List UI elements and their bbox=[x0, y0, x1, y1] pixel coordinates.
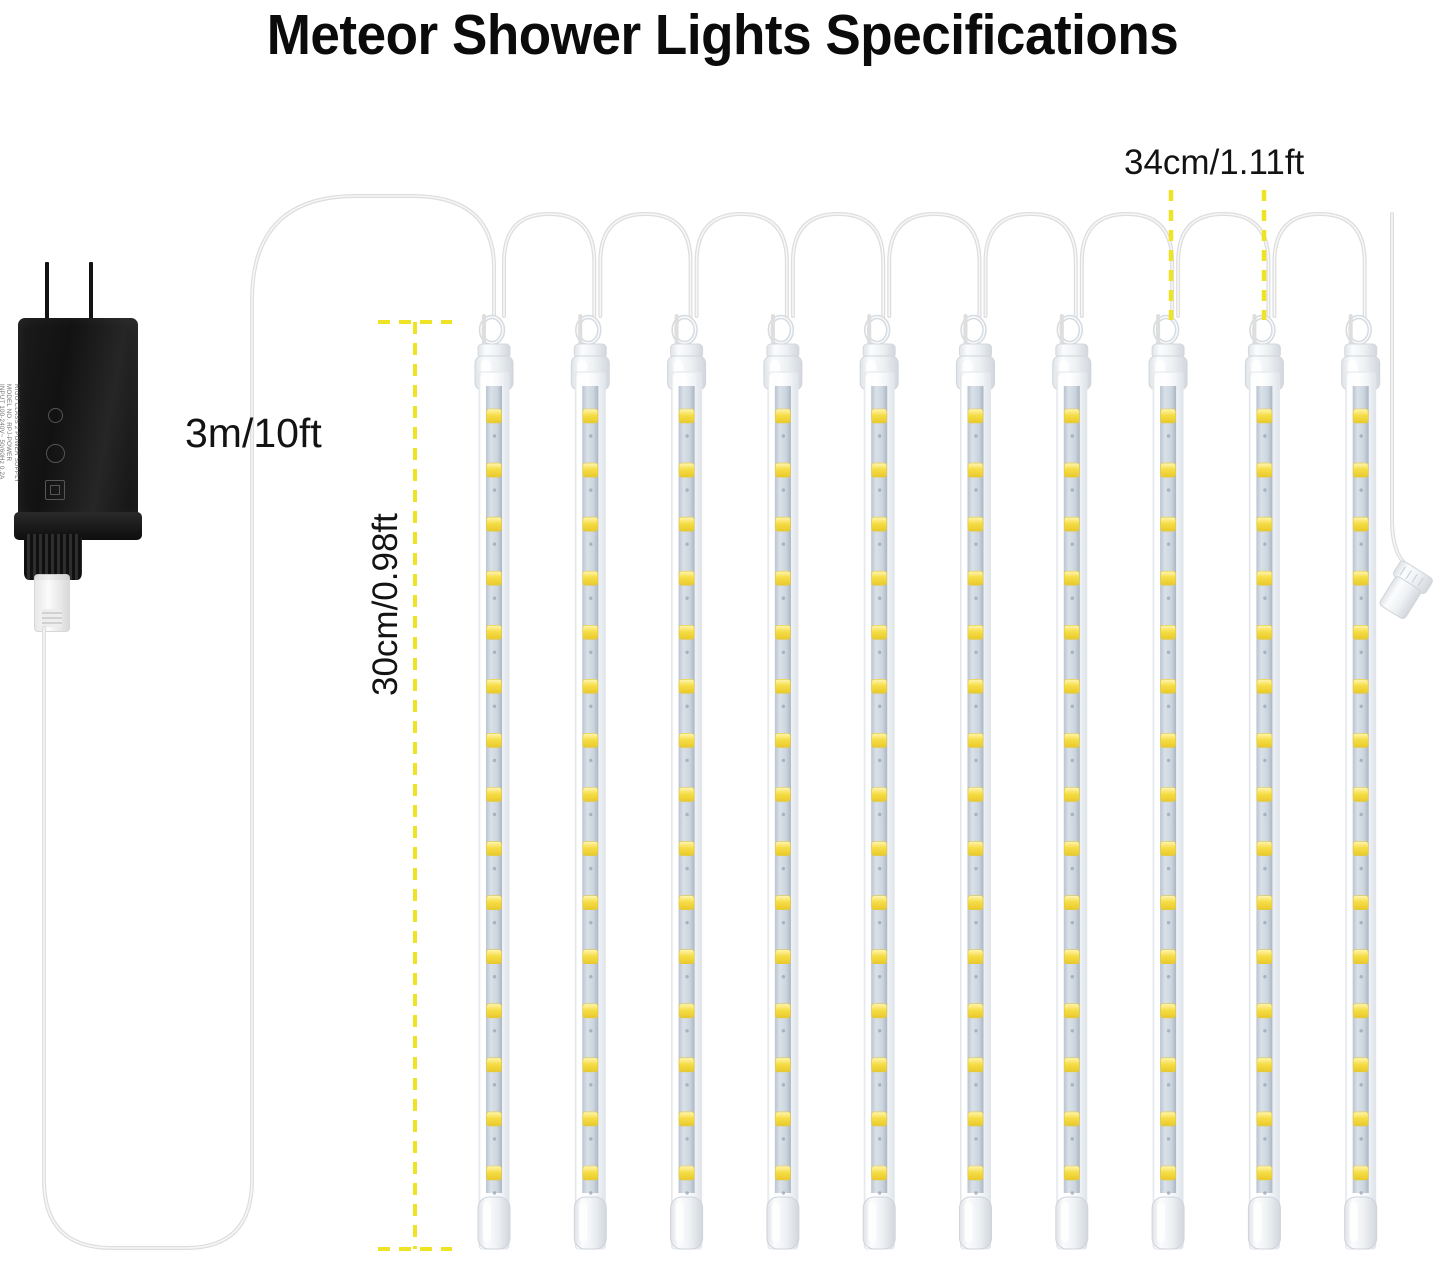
connector-wire bbox=[697, 214, 787, 316]
led-chip bbox=[487, 1166, 502, 1180]
led-chip bbox=[1064, 896, 1079, 910]
pcb-solder-dot bbox=[493, 1083, 496, 1086]
pcb-solder-dot bbox=[1071, 1137, 1074, 1140]
led-chip bbox=[1353, 571, 1368, 585]
pcb-solder-dot bbox=[685, 597, 688, 600]
pcb-solder-dot bbox=[974, 921, 977, 924]
led-chip bbox=[583, 625, 598, 639]
led-chip bbox=[1257, 625, 1272, 639]
pcb-solder-dot bbox=[1360, 542, 1363, 545]
led-tube bbox=[1245, 316, 1283, 1249]
pcb-solder-dot bbox=[974, 651, 977, 654]
led-chip bbox=[1161, 1058, 1176, 1072]
pcb-solder-dot bbox=[878, 759, 881, 762]
pcb-solder-dot bbox=[878, 1191, 881, 1194]
tube-gloss-highlight bbox=[673, 376, 678, 1239]
connector-wire bbox=[793, 214, 883, 316]
pcb-solder-dot bbox=[685, 867, 688, 870]
led-chip bbox=[487, 842, 502, 856]
pcb-solder-dot bbox=[974, 1137, 977, 1140]
pcb-solder-dot bbox=[782, 1191, 785, 1194]
led-chip bbox=[679, 409, 694, 423]
led-chip bbox=[487, 896, 502, 910]
pcb-solder-dot bbox=[1263, 651, 1266, 654]
led-chip bbox=[968, 950, 983, 964]
led-chip bbox=[968, 571, 983, 585]
pcb-solder-dot bbox=[1167, 1137, 1170, 1140]
led-chip bbox=[1257, 1166, 1272, 1180]
led-tube-group bbox=[475, 316, 1380, 1249]
pcb-solder-dot bbox=[782, 1137, 785, 1140]
led-chip bbox=[679, 625, 694, 639]
led-chip bbox=[1064, 1058, 1079, 1072]
led-chip bbox=[872, 842, 887, 856]
pcb-solder-dot bbox=[782, 597, 785, 600]
led-chip bbox=[1257, 571, 1272, 585]
tube-gloss-highlight bbox=[577, 376, 582, 1239]
led-chip bbox=[1064, 1166, 1079, 1180]
led-chip bbox=[583, 896, 598, 910]
led-chip bbox=[487, 1058, 502, 1072]
led-chip bbox=[968, 463, 983, 477]
pcb-solder-dot bbox=[589, 975, 592, 978]
pcb-solder-dot bbox=[685, 1029, 688, 1032]
pcb-solder-dot bbox=[493, 434, 496, 437]
tube-gloss-highlight bbox=[1155, 376, 1160, 1239]
led-chip bbox=[583, 517, 598, 531]
led-chip bbox=[679, 1058, 694, 1072]
led-chip bbox=[679, 733, 694, 747]
led-chip bbox=[968, 733, 983, 747]
connector-wire bbox=[600, 214, 690, 316]
led-chip bbox=[1064, 1004, 1079, 1018]
pcb-solder-dot bbox=[1071, 759, 1074, 762]
led-chip bbox=[1064, 950, 1079, 964]
pcb-solder-dot bbox=[878, 434, 881, 437]
tube-bottom-cap bbox=[863, 1197, 895, 1249]
pcb-solder-dot bbox=[1360, 921, 1363, 924]
connector-wire-highlight bbox=[1082, 214, 1172, 316]
pcb-solder-dot bbox=[493, 1191, 496, 1194]
pcb-solder-dot bbox=[1167, 759, 1170, 762]
pcb-solder-dot bbox=[1360, 1137, 1363, 1140]
pcb-solder-dot bbox=[974, 867, 977, 870]
pcb-solder-dot bbox=[589, 1191, 592, 1194]
tube-bottom-cap bbox=[1056, 1197, 1088, 1249]
led-chip bbox=[679, 571, 694, 585]
tube-bottom-cap-highlight bbox=[579, 1202, 587, 1242]
pcb-solder-dot bbox=[685, 813, 688, 816]
connector-wires bbox=[504, 214, 1365, 316]
pcb-solder-dot bbox=[685, 651, 688, 654]
pcb-solder-dot bbox=[782, 867, 785, 870]
led-chip bbox=[583, 842, 598, 856]
pcb-solder-dot bbox=[1263, 434, 1266, 437]
tube-bottom-cap-highlight bbox=[1350, 1202, 1358, 1242]
pcb-solder-dot bbox=[1360, 705, 1363, 708]
tube-bottom-cap-highlight bbox=[1253, 1202, 1261, 1242]
connector-wire bbox=[889, 214, 979, 316]
pcb-solder-dot bbox=[878, 867, 881, 870]
connector-wire-highlight bbox=[697, 214, 787, 316]
pcb-solder-dot bbox=[493, 1137, 496, 1140]
led-chip bbox=[775, 1166, 790, 1180]
pcb-solder-dot bbox=[589, 813, 592, 816]
tube-length-label: 30cm/0.98ft bbox=[366, 513, 406, 696]
led-tube bbox=[1053, 316, 1091, 1249]
led-chip bbox=[1257, 733, 1272, 747]
led-chip bbox=[1161, 950, 1176, 964]
led-chip bbox=[1353, 463, 1368, 477]
led-chip bbox=[679, 788, 694, 802]
pcb-solder-dot bbox=[1167, 488, 1170, 491]
pcb-solder-dot bbox=[493, 867, 496, 870]
led-chip bbox=[872, 625, 887, 639]
pcb-solder-dot bbox=[878, 597, 881, 600]
led-chip bbox=[1257, 1004, 1272, 1018]
led-chip bbox=[1257, 463, 1272, 477]
pcb-solder-dot bbox=[782, 813, 785, 816]
pcb-solder-dot bbox=[878, 1029, 881, 1032]
led-chip bbox=[487, 788, 502, 802]
led-chip bbox=[872, 679, 887, 693]
led-chip bbox=[583, 463, 598, 477]
led-chip bbox=[583, 1166, 598, 1180]
pcb-solder-dot bbox=[1360, 434, 1363, 437]
pcb-solder-dot bbox=[493, 651, 496, 654]
led-chip bbox=[1064, 1112, 1079, 1126]
pcb-solder-dot bbox=[1167, 542, 1170, 545]
pcb-solder-dot bbox=[1167, 1083, 1170, 1086]
led-chip bbox=[968, 1166, 983, 1180]
dimension-guide-tube-length bbox=[378, 322, 452, 1249]
led-chip bbox=[872, 733, 887, 747]
pcb-solder-dot bbox=[1167, 975, 1170, 978]
led-chip bbox=[1064, 842, 1079, 856]
pcb-solder-dot bbox=[878, 975, 881, 978]
pcb-solder-dot bbox=[878, 921, 881, 924]
led-chip bbox=[872, 896, 887, 910]
diagram-vectors bbox=[0, 0, 1445, 1271]
led-chip bbox=[583, 679, 598, 693]
led-chip bbox=[1353, 625, 1368, 639]
led-chip bbox=[968, 1112, 983, 1126]
led-chip bbox=[679, 463, 694, 477]
led-chip bbox=[1161, 733, 1176, 747]
led-chip bbox=[1161, 1166, 1176, 1180]
led-chip bbox=[1257, 788, 1272, 802]
product-artboard: RIGO CLASS 2 POWER SUPPLY MODEL NO. RPJ-… bbox=[0, 0, 1445, 1271]
led-chip bbox=[1353, 842, 1368, 856]
pcb-solder-dot bbox=[1360, 597, 1363, 600]
led-chip bbox=[679, 950, 694, 964]
led-chip bbox=[583, 1058, 598, 1072]
pcb-solder-dot bbox=[1263, 921, 1266, 924]
led-chip bbox=[583, 1112, 598, 1126]
led-tube bbox=[860, 316, 898, 1249]
led-chip bbox=[1257, 1112, 1272, 1126]
pcb-solder-dot bbox=[589, 1137, 592, 1140]
pcb-solder-dot bbox=[878, 488, 881, 491]
led-chip bbox=[1064, 517, 1079, 531]
pcb-solder-dot bbox=[1071, 1191, 1074, 1194]
pcb-solder-dot bbox=[1167, 867, 1170, 870]
led-chip bbox=[775, 517, 790, 531]
led-chip bbox=[872, 1166, 887, 1180]
led-chip bbox=[1353, 409, 1368, 423]
led-chip bbox=[1161, 517, 1176, 531]
pcb-solder-dot bbox=[589, 651, 592, 654]
pcb-solder-dot bbox=[782, 705, 785, 708]
led-chip bbox=[1064, 625, 1079, 639]
pcb-solder-dot bbox=[1360, 488, 1363, 491]
pcb-solder-dot bbox=[974, 488, 977, 491]
led-chip bbox=[1161, 1004, 1176, 1018]
led-chip bbox=[583, 788, 598, 802]
tube-bottom-cap bbox=[1152, 1197, 1184, 1249]
pcb-solder-dot bbox=[974, 813, 977, 816]
pcb-solder-dot bbox=[1071, 921, 1074, 924]
led-chip bbox=[775, 788, 790, 802]
led-chip bbox=[872, 571, 887, 585]
tube-gloss-highlight bbox=[1251, 376, 1256, 1239]
led-chip bbox=[1161, 788, 1176, 802]
connector-wire-highlight bbox=[793, 214, 883, 316]
pcb-solder-dot bbox=[974, 1191, 977, 1194]
pcb-solder-dot bbox=[1167, 921, 1170, 924]
pcb-solder-dot bbox=[589, 488, 592, 491]
led-chip bbox=[872, 788, 887, 802]
led-chip bbox=[968, 1058, 983, 1072]
tube-bottom-cap-highlight bbox=[483, 1202, 491, 1242]
led-chip bbox=[775, 896, 790, 910]
pcb-solder-dot bbox=[1071, 1083, 1074, 1086]
pcb-solder-dot bbox=[589, 921, 592, 924]
pcb-solder-dot bbox=[685, 759, 688, 762]
pcb-solder-dot bbox=[1360, 813, 1363, 816]
connector-wire bbox=[1274, 214, 1364, 316]
led-chip bbox=[968, 788, 983, 802]
pcb-solder-dot bbox=[1167, 705, 1170, 708]
led-chip bbox=[968, 625, 983, 639]
led-chip bbox=[1161, 896, 1176, 910]
led-chip bbox=[1064, 733, 1079, 747]
pcb-solder-dot bbox=[782, 1083, 785, 1086]
tube-bottom-cap bbox=[671, 1197, 703, 1249]
led-chip bbox=[1353, 950, 1368, 964]
led-chip bbox=[872, 409, 887, 423]
pcb-solder-dot bbox=[1071, 1029, 1074, 1032]
led-chip bbox=[1161, 842, 1176, 856]
led-chip bbox=[1064, 679, 1079, 693]
tube-bottom-cap-highlight bbox=[1061, 1202, 1069, 1242]
pcb-solder-dot bbox=[493, 597, 496, 600]
pcb-solder-dot bbox=[1360, 1191, 1363, 1194]
pcb-solder-dot bbox=[782, 488, 785, 491]
pcb-solder-dot bbox=[1071, 705, 1074, 708]
led-chip bbox=[1353, 1004, 1368, 1018]
pcb-solder-dot bbox=[1360, 651, 1363, 654]
connector-wire-highlight bbox=[1274, 214, 1364, 316]
pcb-solder-dot bbox=[1360, 759, 1363, 762]
pcb-solder-dot bbox=[782, 542, 785, 545]
led-chip bbox=[1353, 1112, 1368, 1126]
led-chip bbox=[679, 1166, 694, 1180]
tube-bottom-cap-highlight bbox=[965, 1202, 973, 1242]
led-chip bbox=[968, 1004, 983, 1018]
led-chip bbox=[872, 1058, 887, 1072]
led-chip bbox=[487, 625, 502, 639]
led-tube bbox=[764, 316, 802, 1249]
tube-gloss-highlight bbox=[481, 376, 486, 1239]
led-chip bbox=[679, 1004, 694, 1018]
pcb-solder-dot bbox=[589, 759, 592, 762]
pcb-solder-dot bbox=[685, 1083, 688, 1086]
pcb-solder-dot bbox=[1071, 813, 1074, 816]
led-chip bbox=[679, 842, 694, 856]
led-chip bbox=[1064, 788, 1079, 802]
led-chip bbox=[487, 733, 502, 747]
pcb-solder-dot bbox=[1263, 867, 1266, 870]
led-chip bbox=[775, 409, 790, 423]
cord-length-label: 3m/10ft bbox=[185, 410, 322, 457]
pcb-solder-dot bbox=[589, 1083, 592, 1086]
pcb-solder-dot bbox=[878, 705, 881, 708]
tube-gloss-highlight bbox=[962, 376, 967, 1239]
pcb-solder-dot bbox=[1263, 1137, 1266, 1140]
led-chip bbox=[583, 1004, 598, 1018]
pcb-solder-dot bbox=[1167, 651, 1170, 654]
pcb-solder-dot bbox=[493, 759, 496, 762]
led-chip bbox=[487, 1112, 502, 1126]
pcb-solder-dot bbox=[589, 705, 592, 708]
connector-wire bbox=[986, 214, 1076, 316]
led-chip bbox=[968, 896, 983, 910]
led-chip bbox=[583, 571, 598, 585]
led-chip bbox=[487, 571, 502, 585]
end-connector bbox=[1375, 214, 1434, 622]
led-tube bbox=[668, 316, 706, 1249]
tube-bottom-cap-highlight bbox=[772, 1202, 780, 1242]
led-chip bbox=[583, 409, 598, 423]
led-chip bbox=[1353, 788, 1368, 802]
pcb-solder-dot bbox=[974, 1083, 977, 1086]
pcb-solder-dot bbox=[493, 975, 496, 978]
pcb-solder-dot bbox=[493, 813, 496, 816]
led-chip bbox=[487, 1004, 502, 1018]
pcb-solder-dot bbox=[1071, 651, 1074, 654]
led-chip bbox=[679, 896, 694, 910]
pcb-solder-dot bbox=[1071, 488, 1074, 491]
led-chip bbox=[487, 517, 502, 531]
led-chip bbox=[1161, 625, 1176, 639]
connector-wire bbox=[504, 214, 594, 316]
pcb-solder-dot bbox=[1071, 434, 1074, 437]
led-chip bbox=[1257, 409, 1272, 423]
led-tube bbox=[475, 316, 513, 1249]
pcb-solder-dot bbox=[493, 488, 496, 491]
connector-wire bbox=[1082, 214, 1172, 316]
pcb-solder-dot bbox=[1167, 1029, 1170, 1032]
pcb-solder-dot bbox=[1167, 1191, 1170, 1194]
pcb-solder-dot bbox=[589, 867, 592, 870]
pcb-solder-dot bbox=[1071, 542, 1074, 545]
pcb-solder-dot bbox=[1263, 975, 1266, 978]
pcb-solder-dot bbox=[1263, 813, 1266, 816]
tube-bottom-cap bbox=[960, 1197, 992, 1249]
connector-wire-highlight bbox=[1178, 214, 1268, 316]
pcb-solder-dot bbox=[589, 542, 592, 545]
led-chip bbox=[1353, 733, 1368, 747]
led-chip bbox=[775, 842, 790, 856]
pcb-solder-dot bbox=[685, 705, 688, 708]
led-chip bbox=[1353, 679, 1368, 693]
led-chip bbox=[679, 679, 694, 693]
pcb-solder-dot bbox=[974, 705, 977, 708]
pcb-solder-dot bbox=[493, 705, 496, 708]
pcb-solder-dot bbox=[589, 1029, 592, 1032]
led-tube bbox=[1342, 316, 1380, 1249]
led-chip bbox=[1257, 950, 1272, 964]
led-chip bbox=[775, 733, 790, 747]
pcb-solder-dot bbox=[589, 597, 592, 600]
led-chip bbox=[1257, 842, 1272, 856]
pcb-solder-dot bbox=[685, 975, 688, 978]
pcb-solder-dot bbox=[782, 921, 785, 924]
pcb-solder-dot bbox=[1360, 975, 1363, 978]
tube-bottom-cap-highlight bbox=[868, 1202, 876, 1242]
connector-wire-highlight bbox=[504, 214, 594, 316]
led-chip bbox=[487, 950, 502, 964]
tube-bottom-cap bbox=[1248, 1197, 1280, 1249]
pcb-solder-dot bbox=[878, 813, 881, 816]
connector-wire bbox=[1178, 214, 1268, 316]
pcb-solder-dot bbox=[685, 434, 688, 437]
pcb-solder-dot bbox=[493, 921, 496, 924]
pcb-solder-dot bbox=[1263, 1029, 1266, 1032]
connector-wire-highlight bbox=[986, 214, 1076, 316]
led-chip bbox=[1353, 517, 1368, 531]
pcb-solder-dot bbox=[1167, 813, 1170, 816]
power-cord bbox=[44, 196, 494, 1248]
led-chip bbox=[487, 679, 502, 693]
pcb-solder-dot bbox=[974, 759, 977, 762]
led-chip bbox=[775, 463, 790, 477]
led-chip bbox=[968, 679, 983, 693]
tube-bottom-cap-highlight bbox=[676, 1202, 684, 1242]
pcb-solder-dot bbox=[1263, 1191, 1266, 1194]
led-chip bbox=[968, 517, 983, 531]
pcb-solder-dot bbox=[1360, 1029, 1363, 1032]
led-chip bbox=[1064, 463, 1079, 477]
led-chip bbox=[775, 571, 790, 585]
tube-gloss-highlight bbox=[1347, 376, 1352, 1239]
pcb-solder-dot bbox=[1071, 597, 1074, 600]
tube-gloss-highlight bbox=[866, 376, 871, 1239]
pcb-solder-dot bbox=[1167, 597, 1170, 600]
led-chip bbox=[1064, 571, 1079, 585]
led-chip bbox=[968, 409, 983, 423]
led-chip bbox=[1353, 896, 1368, 910]
led-chip bbox=[775, 679, 790, 693]
led-chip bbox=[487, 463, 502, 477]
tube-bottom-cap bbox=[1345, 1197, 1377, 1249]
led-tube bbox=[1149, 316, 1187, 1249]
pcb-solder-dot bbox=[1167, 434, 1170, 437]
pcb-solder-dot bbox=[974, 434, 977, 437]
led-chip bbox=[1161, 679, 1176, 693]
pcb-solder-dot bbox=[1360, 867, 1363, 870]
